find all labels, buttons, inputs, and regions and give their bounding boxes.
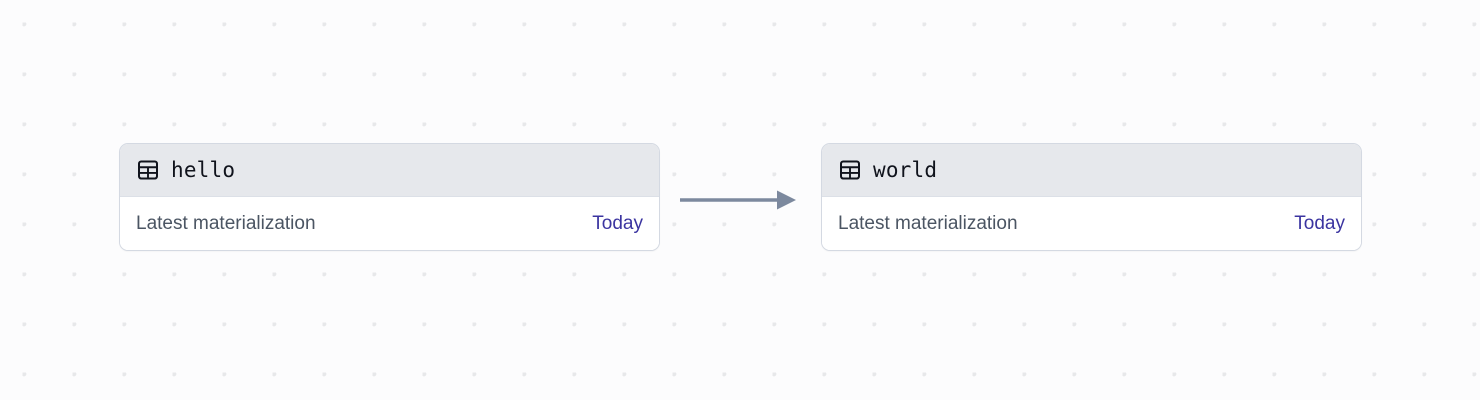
latest-materialization-label: Latest materialization bbox=[838, 214, 1018, 233]
asset-node-hello[interactable]: hello Latest materialization Today bbox=[119, 143, 660, 251]
latest-materialization-value[interactable]: Today bbox=[1294, 214, 1345, 233]
asset-node-body: Latest materialization Today bbox=[822, 197, 1361, 250]
asset-node-body: Latest materialization Today bbox=[120, 197, 659, 250]
table-icon bbox=[838, 158, 862, 182]
edge-hello-to-world[interactable] bbox=[672, 180, 808, 220]
asset-node-header[interactable]: world bbox=[822, 144, 1361, 197]
table-icon bbox=[136, 158, 160, 182]
asset-node-header[interactable]: hello bbox=[120, 144, 659, 197]
asset-node-title: hello bbox=[171, 160, 235, 181]
latest-materialization-label: Latest materialization bbox=[136, 214, 316, 233]
asset-graph-canvas[interactable]: hello Latest materialization Today world… bbox=[0, 0, 1480, 400]
asset-node-title: world bbox=[873, 160, 937, 181]
latest-materialization-value[interactable]: Today bbox=[592, 214, 643, 233]
asset-node-world[interactable]: world Latest materialization Today bbox=[821, 143, 1362, 251]
